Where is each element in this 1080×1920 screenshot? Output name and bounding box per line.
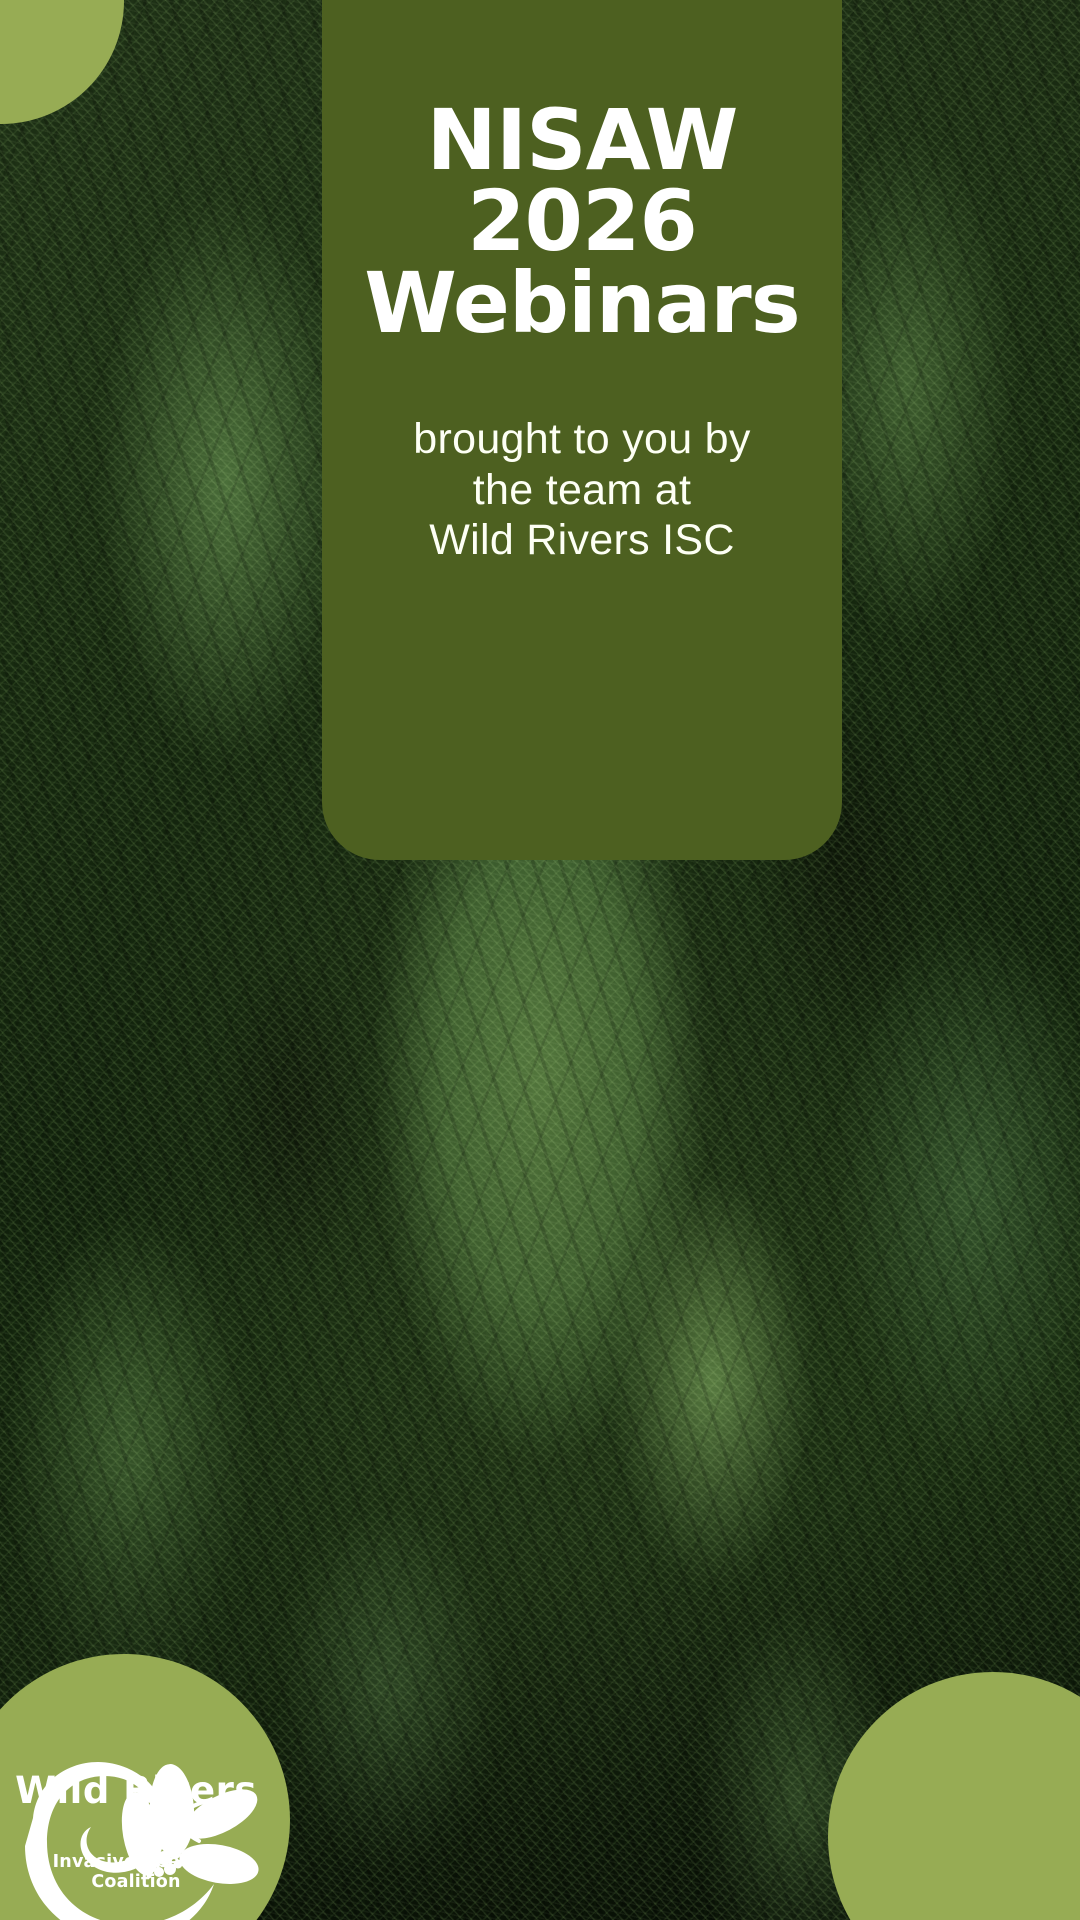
logo-tagline: Invasive Species Coalition — [6, 1852, 266, 1892]
poster-canvas: NISAW 2026 Webinars brought to you by th… — [0, 0, 1080, 1920]
headline-card: NISAW 2026 Webinars brought to you by th… — [322, 0, 842, 860]
logo-wordmark: Wild Rivers — [12, 1769, 260, 1812]
page-title: NISAW 2026 Webinars — [352, 100, 812, 344]
page-subtitle: brought to you by the team at Wild River… — [352, 414, 812, 565]
